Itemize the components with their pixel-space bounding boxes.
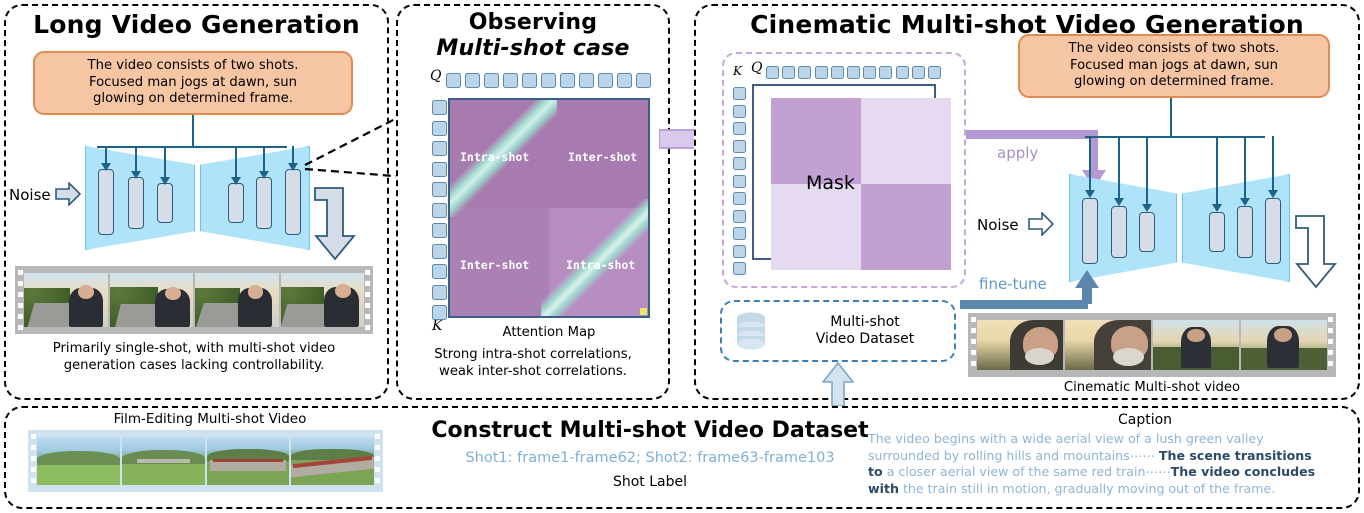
unet-feed-right-2 xyxy=(1118,136,1120,200)
caption-left-panel: Primarily single-shot, with multi-shot v… xyxy=(15,340,373,374)
prompt-connector-right xyxy=(1170,98,1172,138)
unet-feed-arrow-right-6 xyxy=(1268,190,1278,198)
unet-feed-arrow-right-1 xyxy=(1085,190,1095,198)
unet-block-left-2 xyxy=(128,177,144,229)
filmstrip-bottom xyxy=(28,430,383,492)
attention-k-token-2 xyxy=(432,121,447,136)
caption-left-line-2: generation cases lacking controllability… xyxy=(15,357,373,374)
unet-feed-arrow-left-3 xyxy=(160,177,170,185)
prompt-connector-left xyxy=(192,115,194,148)
unet-block-right-2 xyxy=(1111,206,1127,258)
attention-q-label: Q xyxy=(430,68,441,84)
filmstrip-right-frame-1 xyxy=(977,320,1063,370)
prompt-line-1: The video consists of two shots. xyxy=(88,58,299,75)
mask-q-token-2 xyxy=(782,66,795,79)
caption-seg-2: ⋯⋯ xyxy=(1130,448,1155,463)
attention-k-token-7 xyxy=(432,223,447,238)
mask-q-token-7 xyxy=(863,66,876,79)
unet-block-right-6 xyxy=(1265,198,1281,264)
caption-seg-7: The video concludes xyxy=(1171,464,1315,479)
prompt-bubble-right: The video consists of two shots. Focused… xyxy=(1018,34,1330,98)
filmstrip-right-frame-4 xyxy=(1241,320,1327,370)
panel-title-observing-line2: Multi-shot case xyxy=(396,36,670,61)
unet-feed-arrow-left-5 xyxy=(259,171,269,179)
film-perforation xyxy=(18,281,23,286)
attention-q-token-4 xyxy=(503,73,518,88)
film-perforation xyxy=(18,292,23,297)
unet-feed-arrow-left-2 xyxy=(131,171,141,179)
attention-k-token-6 xyxy=(432,203,447,218)
caption-body-line-1: The video begins with a wide aerial view… xyxy=(868,431,1353,448)
attention-k-label: K xyxy=(432,318,442,334)
finetune-arrow-head xyxy=(1075,270,1099,304)
attention-map-label: Attention Map xyxy=(448,324,650,341)
attention-q-token-6 xyxy=(541,73,556,88)
attention-k-token-11 xyxy=(432,305,447,320)
filmstrip-left-frame-3 xyxy=(195,273,279,327)
attention-q-token-10 xyxy=(617,73,632,88)
unet-feed-arrow-right-4 xyxy=(1212,204,1222,212)
caption-title: Caption xyxy=(940,412,1350,428)
unet-block-left-1 xyxy=(98,169,114,235)
mask-k-token-7 xyxy=(733,192,746,205)
noise-label-left: Noise xyxy=(9,186,51,204)
caption-body: The video begins with a wide aerial view… xyxy=(868,431,1353,497)
unet-block-left-4 xyxy=(228,183,244,223)
mask-quadrant-bottom-right xyxy=(861,184,951,270)
filmstrip-bottom-frame-1 xyxy=(37,437,120,485)
mask-q-token-6 xyxy=(847,66,860,79)
prompt-right-line-3: glowing on determined frame. xyxy=(1069,74,1280,91)
caption-left-line-1: Primarily single-shot, with multi-shot v… xyxy=(15,340,373,357)
filmstrip-bottom-frame-2 xyxy=(122,437,205,485)
unet-feed-arrow-left-4 xyxy=(231,177,241,185)
apply-arrow-horizontal xyxy=(966,130,1098,139)
mask-q-token-3 xyxy=(798,66,811,79)
attention-k-token-3 xyxy=(432,141,447,156)
film-perforation xyxy=(971,328,976,333)
caption-seg-8: with xyxy=(868,481,899,496)
noise-arrow-left xyxy=(55,182,81,206)
film-perforation xyxy=(1328,328,1333,333)
attention-q-token-3 xyxy=(484,73,499,88)
mask-q-tokens xyxy=(766,66,943,79)
prompt-line-3: glowing on determined frame. xyxy=(88,91,299,108)
mask-k-token-8 xyxy=(733,210,746,223)
caption-seg-4: to xyxy=(868,464,883,479)
film-perforation xyxy=(375,456,380,461)
attention-q-token-9 xyxy=(598,73,613,88)
unet-feed-arrow-right-2 xyxy=(1114,198,1124,206)
attention-q-tokens xyxy=(446,73,652,88)
attention-caption-line-1: Strong intra-shot correlations, xyxy=(400,346,666,363)
database-icon xyxy=(734,311,768,351)
film-perforation xyxy=(31,467,36,472)
attention-label-inter-shot-tr: Inter-shot xyxy=(568,150,637,164)
prompt-line-2: Focused man jogs at dawn, sun xyxy=(88,75,299,92)
mask-q-token-9 xyxy=(896,66,909,79)
film-perforation xyxy=(365,270,370,275)
film-perforation xyxy=(1328,361,1333,366)
film-perforation xyxy=(365,303,370,308)
attention-caption: Strong intra-shot correlations, weak int… xyxy=(400,346,666,380)
unet-block-right-1 xyxy=(1082,198,1098,264)
unet-block-right-4 xyxy=(1209,212,1225,252)
bottom-panel-title: Construct Multi-shot Video Dataset xyxy=(390,418,910,443)
film-perforation xyxy=(31,456,36,461)
mask-k-token-6 xyxy=(733,175,746,188)
mask-k-token-3 xyxy=(733,122,746,135)
mask-matrix xyxy=(771,98,951,270)
attention-k-token-8 xyxy=(432,244,447,259)
filmstrip-left-frame-1 xyxy=(24,273,108,327)
attention-q-token-11 xyxy=(636,73,651,88)
unet-block-left-5 xyxy=(256,177,272,229)
film-perforation xyxy=(1328,317,1333,322)
caption-seg-1: surrounded by rolling hills and mountain… xyxy=(868,448,1130,463)
attention-q-token-8 xyxy=(579,73,594,88)
film-perforation xyxy=(375,467,380,472)
filmstrip-right xyxy=(968,313,1336,377)
mask-q-token-11 xyxy=(928,66,941,79)
unet-feed-left-4 xyxy=(235,146,237,179)
film-perforation xyxy=(1328,350,1333,355)
filmstrip-bottom-frame-3 xyxy=(207,437,290,485)
prompt-right-line-1: The video consists of two shots. xyxy=(1069,41,1280,58)
film-perforation xyxy=(365,325,370,330)
unet-feed-arrow-right-5 xyxy=(1240,198,1250,206)
dataset-box: Multi-shot Video Dataset xyxy=(720,300,956,362)
unet-feed-right-4 xyxy=(1216,136,1218,206)
caption-seg-6: ⋯⋯ xyxy=(1145,464,1170,479)
panel-title-long-video-generation: Long Video Generation xyxy=(4,10,389,39)
caption-seg-3: The scene transitions xyxy=(1159,448,1312,463)
unet-feed-left-3 xyxy=(164,146,166,179)
attention-k-token-4 xyxy=(432,162,447,177)
caption-seg-9: the train still in motion, gradually mov… xyxy=(903,481,1275,496)
film-perforation xyxy=(18,303,23,308)
unet-block-right-5 xyxy=(1237,206,1253,258)
output-arrow-right xyxy=(1294,214,1342,290)
mask-q-token-10 xyxy=(912,66,925,79)
filmstrip-left xyxy=(15,266,373,334)
caption-body-line-3: to a closer aerial view of the same red … xyxy=(868,464,1353,481)
attention-k-token-9 xyxy=(432,264,447,279)
mask-q-token-1 xyxy=(766,66,779,79)
unet-feed-arrow-left-1 xyxy=(101,163,111,171)
attention-q-token-5 xyxy=(522,73,537,88)
filmstrip-right-frame-2 xyxy=(1065,320,1151,370)
unet-feed-left-2 xyxy=(135,146,137,173)
film-perforation xyxy=(375,445,380,450)
caption-body-line-2: surrounded by rolling hills and mountain… xyxy=(868,448,1353,465)
finetune-label: fine-tune xyxy=(979,275,1047,293)
film-perforation xyxy=(31,478,36,483)
film-perforation xyxy=(971,339,976,344)
mask-k-token-5 xyxy=(733,157,746,170)
mask-q-token-4 xyxy=(815,66,828,79)
filmstrip-bottom-frame-4 xyxy=(291,437,374,485)
attention-caption-line-2: weak inter-shot correlations. xyxy=(400,363,666,380)
film-perforation xyxy=(375,434,380,439)
caption-cinematic-video: Cinematic Multi-shot video xyxy=(968,379,1336,396)
unet-block-left-3 xyxy=(157,183,173,223)
film-perforation xyxy=(375,478,380,483)
unet-feed-arrow-right-3 xyxy=(1142,204,1152,212)
dataset-line-1: Multi-shot xyxy=(776,314,954,332)
film-perforation xyxy=(18,314,23,319)
shot-label-text: Shot1: frame1-frame62; Shot2: frame63-fr… xyxy=(390,450,910,466)
attention-k-token-10 xyxy=(432,285,447,300)
film-perforation xyxy=(971,350,976,355)
prompt-right-line-2: Focused man jogs at dawn, sun xyxy=(1069,58,1280,75)
film-perforation xyxy=(18,325,23,330)
mask-q-token-5 xyxy=(831,66,844,79)
caption-seg-0: The video begins with a wide aerial view… xyxy=(868,431,1264,446)
panel-title-observing-line1: Observing xyxy=(396,10,670,35)
unet-feed-left-5 xyxy=(263,146,265,173)
unet-bus-right xyxy=(1085,136,1265,138)
dataset-feed-arrow xyxy=(822,362,854,406)
attention-label-inter-shot-bl: Inter-shot xyxy=(460,258,529,272)
unet-feed-right-3 xyxy=(1146,136,1148,206)
dataset-line-2: Video Dataset xyxy=(776,331,954,349)
film-perforation xyxy=(365,281,370,286)
attention-k-token-1 xyxy=(432,100,447,115)
mask-q-label: Q xyxy=(751,60,762,76)
mask-k-label: K xyxy=(733,64,742,78)
caption-body-line-4: with the train still in motion, graduall… xyxy=(868,481,1353,498)
unet-bus-left xyxy=(97,146,287,148)
unet-feed-right-6 xyxy=(1272,136,1274,192)
filmstrip-right-frame-3 xyxy=(1153,320,1239,370)
attention-k-token-5 xyxy=(432,182,447,197)
mask-k-token-4 xyxy=(733,140,746,153)
attention-label-intra-shot-tl: Intra-shot xyxy=(460,150,529,164)
output-arrow-left xyxy=(313,186,361,262)
noise-label-right: Noise xyxy=(977,216,1019,234)
mask-label: Mask xyxy=(806,172,855,194)
apply-label: apply xyxy=(997,144,1038,162)
mask-quadrant-top-right xyxy=(861,98,951,184)
attention-q-token-2 xyxy=(465,73,480,88)
attention-q-token-7 xyxy=(560,73,575,88)
mask-q-token-8 xyxy=(879,66,892,79)
unet-block-right-3 xyxy=(1139,212,1155,252)
finetune-arrow-horizontal xyxy=(960,300,1088,309)
caption-seg-5: a closer aerial view of the same red tra… xyxy=(887,464,1146,479)
mask-k-token-11 xyxy=(733,262,746,275)
mask-k-token-10 xyxy=(733,245,746,258)
mask-k-token-1 xyxy=(733,87,746,100)
filmstrip-left-frame-2 xyxy=(110,273,194,327)
film-perforation xyxy=(1328,339,1333,344)
film-perforation xyxy=(971,361,976,366)
attention-q-token-1 xyxy=(446,73,461,88)
shot-label-caption: Shot Label xyxy=(390,474,910,490)
film-perforation xyxy=(971,317,976,322)
mask-k-tokens xyxy=(733,87,746,272)
mask-quadrant-bottom-left xyxy=(771,184,861,270)
mask-k-token-2 xyxy=(733,105,746,118)
film-perforation xyxy=(365,314,370,319)
noise-arrow-right xyxy=(1028,212,1054,236)
film-perforation xyxy=(31,434,36,439)
film-perforation xyxy=(18,270,23,275)
film-perforation xyxy=(365,292,370,297)
attention-corner-highlight xyxy=(640,308,647,315)
film-perforation xyxy=(31,445,36,450)
mask-k-token-9 xyxy=(733,227,746,240)
unet-feed-right-1 xyxy=(1089,136,1091,192)
filmstrip-left-frame-4 xyxy=(281,273,365,327)
attention-map: Intra-shot Inter-shot Inter-shot Intra-s… xyxy=(448,98,650,318)
film-editing-title: Film-Editing Multi-shot Video xyxy=(40,411,380,429)
unet-feed-right-5 xyxy=(1244,136,1246,200)
attention-label-intra-shot-br: Intra-shot xyxy=(566,258,635,272)
attention-k-tokens xyxy=(432,100,447,315)
